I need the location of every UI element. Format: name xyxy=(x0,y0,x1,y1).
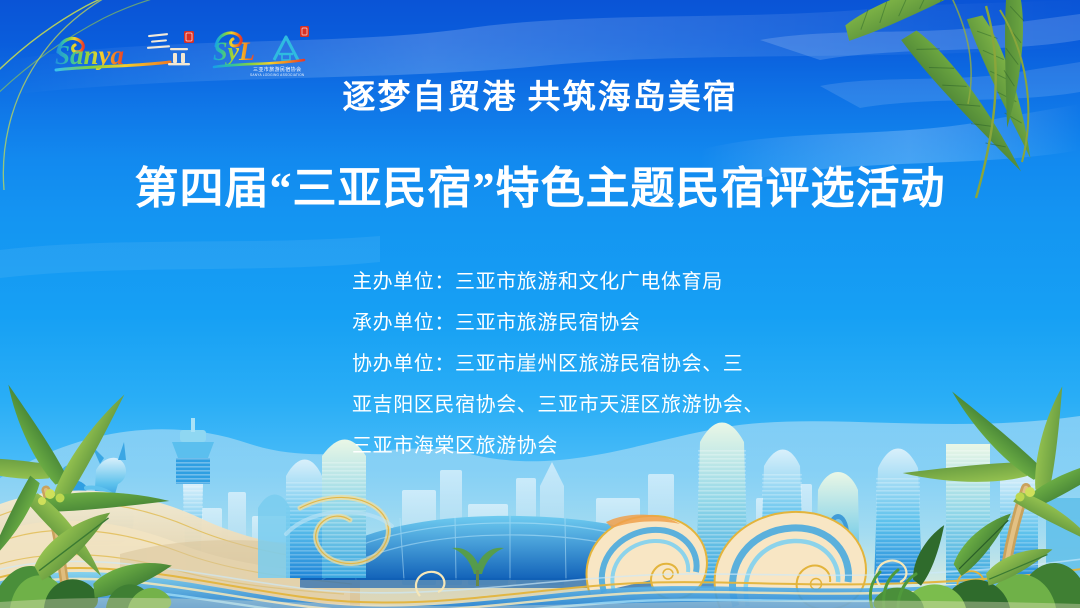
logo-group: Sanya xyxy=(52,24,317,76)
syla-subtitle-chinese: 三亚市旅游民宿协会 xyxy=(253,67,302,73)
organizer-line: 主办单位：三亚市旅游和文化广电体育局 xyxy=(352,262,792,303)
syla-subtitle-english: SANYA LODGING ASSOCIATION xyxy=(250,73,304,77)
organizer-line: 承办单位：三亚市旅游民宿协会 xyxy=(352,303,792,344)
organizer-line: 亚吉阳区民宿协会、三亚市天涯区旅游协会、 xyxy=(352,385,792,426)
sanya-logo: Sanya xyxy=(52,26,202,76)
page-title: 第四届“三亚民宿”特色主题民宿评选活动 xyxy=(0,152,1080,216)
organizer-line: 协办单位：三亚市崖州区旅游民宿协会、三 xyxy=(352,344,792,385)
syla-logo: SyL 三亚市旅游民宿协会 SANYA LODGING ASSOCIATION xyxy=(212,24,317,76)
promotional-poster: Sanya xyxy=(0,0,1080,608)
headline: 逐梦自贸港 共筑海岛美宿 xyxy=(0,70,1080,118)
svg-text:SyL: SyL xyxy=(213,37,255,66)
organizer-line: 三亚市海棠区旅游协会 xyxy=(352,426,792,467)
organizer-block: 主办单位：三亚市旅游和文化广电体育局 承办单位：三亚市旅游民宿协会 协办单位：三… xyxy=(352,262,792,467)
syla-logo-subtitle: 三亚市旅游民宿协会 SANYA LODGING ASSOCIATION xyxy=(250,67,304,77)
